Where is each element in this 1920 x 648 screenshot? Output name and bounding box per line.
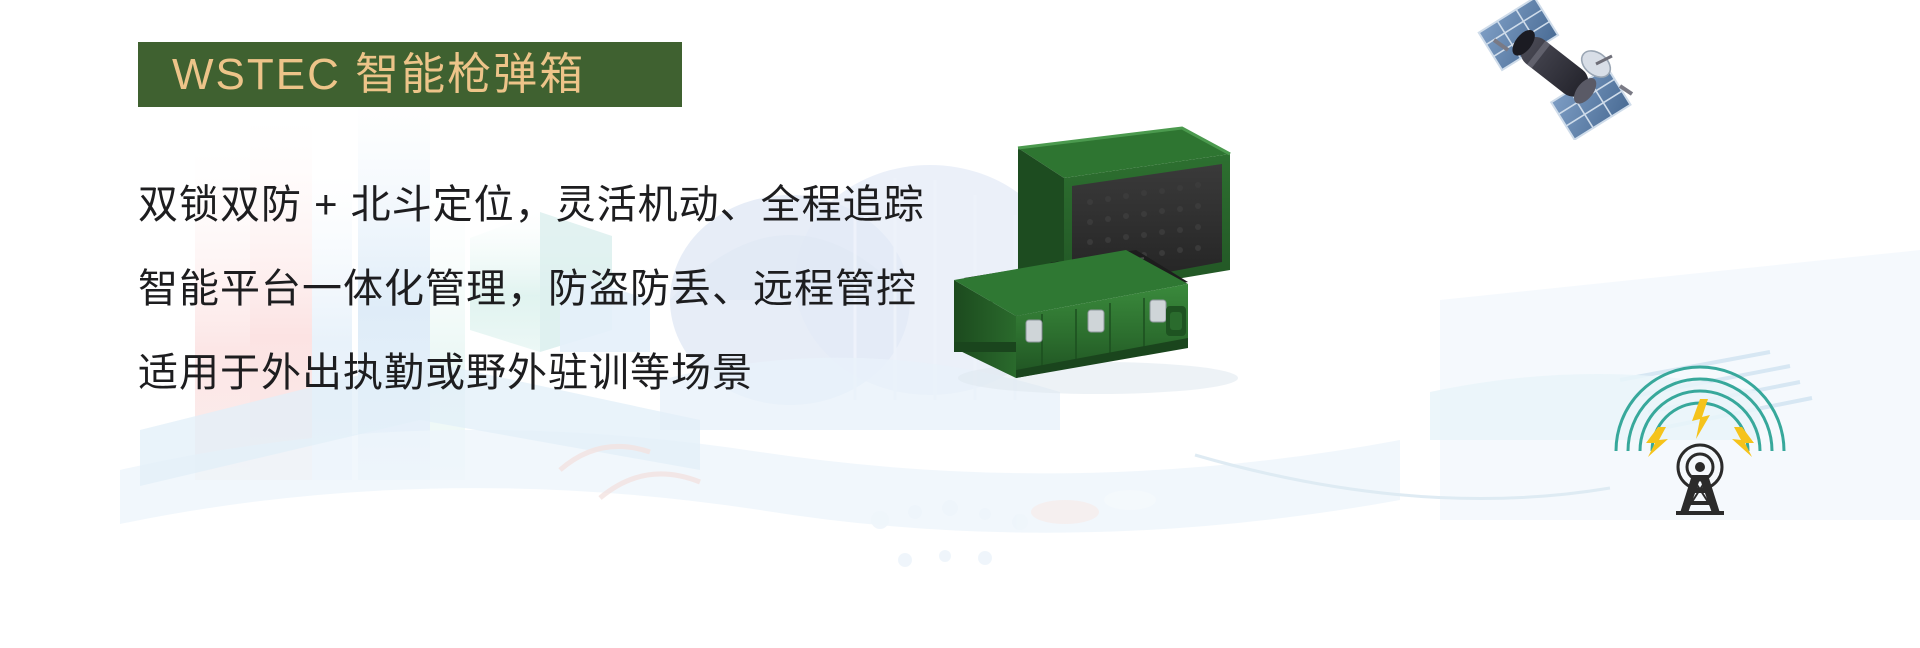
satellite-icon — [1470, 0, 1640, 140]
case-body — [954, 250, 1188, 378]
feature-line-2: 智能平台一体化管理，防盗防丢、远程管控 — [138, 269, 968, 309]
feature-line-3: 适用于外出执勤或野外驻训等场景 — [138, 353, 968, 393]
tower-head — [1678, 445, 1722, 489]
ammo-case-illustration — [930, 110, 1260, 400]
title-banner: WSTEC 智能枪弹箱 — [138, 42, 682, 107]
radio-tower-icon — [1610, 355, 1790, 515]
satellite-illustration — [1470, 0, 1640, 140]
banner-title-text: WSTEC 智能枪弹箱 — [138, 53, 585, 97]
promo-banner-stage: WSTEC 智能枪弹箱 双锁双防 + 北斗定位，灵活机动、全程追踪 智能平台一体… — [0, 0, 1920, 648]
case-handle — [1166, 306, 1186, 336]
radio-tower-illustration — [1610, 355, 1790, 515]
feature-line-1: 双锁双防 + 北斗定位，灵活机动、全程追踪 — [138, 185, 968, 225]
feature-list: 双锁双防 + 北斗定位，灵活机动、全程追踪 智能平台一体化管理，防盗防丢、远程管… — [138, 185, 968, 393]
signal-bolts — [1646, 399, 1754, 457]
product-image-ammo-case — [930, 110, 1260, 400]
